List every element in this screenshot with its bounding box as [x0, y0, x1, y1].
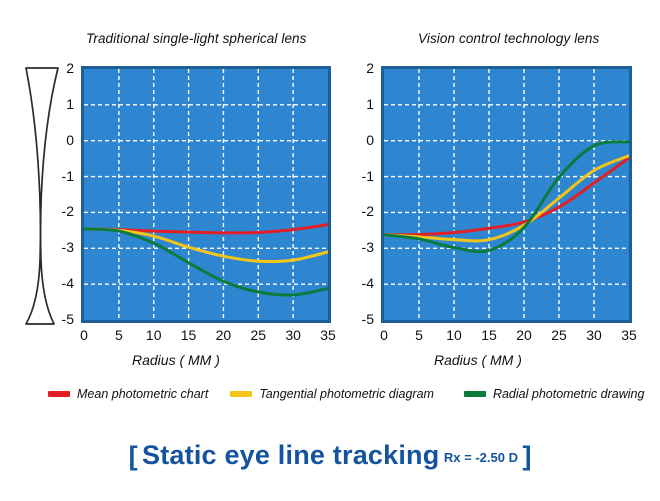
- chart-1-plot-area: [81, 66, 331, 323]
- caption-sub-text: Rx = -2.50 D: [444, 450, 518, 465]
- y-tick-label: 2: [48, 60, 74, 76]
- x-tick-label: 20: [511, 327, 537, 343]
- y-tick-label: 1: [348, 96, 374, 112]
- chart-2-plot-area: [381, 66, 632, 323]
- chart-1-x-axis-label: Radius ( MM ): [132, 352, 220, 368]
- y-tick-label: -2: [348, 203, 374, 219]
- y-tick-label: 1: [48, 96, 74, 112]
- chart-2-svg: [384, 69, 629, 320]
- x-tick-label: 35: [616, 327, 642, 343]
- chart-2-x-axis-label-text: Radius ( MM ): [434, 352, 522, 368]
- y-tick-label: -5: [348, 311, 374, 327]
- legend-swatch-radial: [464, 391, 486, 397]
- chart-1-x-axis-label-text: Radius ( MM ): [132, 352, 220, 368]
- legend-label-radial: Radial photometric drawing: [493, 387, 644, 401]
- series-line-tangential-photometric-diagram: [384, 156, 629, 241]
- x-tick-label: 20: [210, 327, 236, 343]
- y-tick-label: -1: [48, 168, 74, 184]
- y-tick-label: 0: [348, 132, 374, 148]
- y-tick-label: 0: [48, 132, 74, 148]
- x-tick-label: 10: [441, 327, 467, 343]
- legend-label-mean: Mean photometric chart: [77, 387, 208, 401]
- chart-1-svg: [84, 69, 328, 320]
- chart-2-x-axis-label: Radius ( MM ): [434, 352, 522, 368]
- y-tick-label: -5: [48, 311, 74, 327]
- x-tick-label: 10: [141, 327, 167, 343]
- bottom-caption: [ Static eye line tracking Rx = -2.50 D …: [0, 440, 660, 472]
- x-tick-label: 0: [71, 327, 97, 343]
- x-tick-label: 15: [476, 327, 502, 343]
- x-tick-label: 35: [315, 327, 341, 343]
- y-tick-label: -4: [348, 275, 374, 291]
- x-tick-label: 5: [106, 327, 132, 343]
- chart-2-title: Vision control technology lens: [418, 31, 599, 46]
- y-tick-label: -2: [48, 203, 74, 219]
- caption-close-bracket: ]: [522, 441, 531, 471]
- legend-swatch-mean: [48, 391, 70, 397]
- x-tick-label: 0: [371, 327, 397, 343]
- y-tick-label: 2: [348, 60, 374, 76]
- chart-1-title: Traditional single-light spherical lens: [86, 31, 307, 46]
- y-tick-label: -3: [48, 239, 74, 255]
- series-line-radial-photometric-drawing: [84, 229, 328, 295]
- caption-open-bracket: [: [129, 441, 138, 471]
- x-tick-label: 30: [280, 327, 306, 343]
- x-tick-label: 25: [245, 327, 271, 343]
- caption-main-text: Static eye line tracking: [142, 440, 439, 470]
- x-tick-label: 15: [176, 327, 202, 343]
- legend-item-mean-photometric-chart: Mean photometric chart: [48, 387, 208, 401]
- legend-label-tangential: Tangential photometric diagram: [259, 387, 434, 401]
- series-line-mean-photometric-chart: [384, 158, 629, 235]
- legend-swatch-tangential: [230, 391, 252, 397]
- x-tick-label: 25: [546, 327, 572, 343]
- x-tick-label: 5: [406, 327, 432, 343]
- y-tick-label: -3: [348, 239, 374, 255]
- y-tick-label: -4: [48, 275, 74, 291]
- legend-item-tangential-photometric-diagram: Tangential photometric diagram: [230, 387, 434, 401]
- legend-item-radial-photometric-drawing: Radial photometric drawing: [464, 387, 644, 401]
- y-tick-label: -1: [348, 168, 374, 184]
- legend: Mean photometric chart Tangential photom…: [48, 383, 648, 405]
- figure-root: Traditional single-light spherical lens …: [0, 0, 660, 501]
- x-tick-label: 30: [581, 327, 607, 343]
